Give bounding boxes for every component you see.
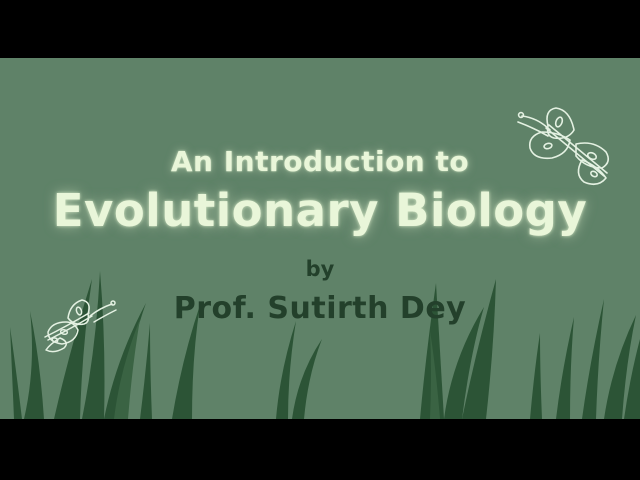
byline-label: by — [0, 233, 640, 280]
eyebrow-line: An Introduction to — [0, 58, 640, 176]
title-text-block: An Introduction to Evolutionary Biology … — [0, 58, 640, 324]
page-title: Evolutionary Biology — [0, 176, 640, 233]
title-slide: An Introduction to Evolutionary Biology … — [0, 58, 640, 419]
video-frame: An Introduction to Evolutionary Biology … — [0, 0, 640, 480]
letterbox-bar-top — [0, 0, 640, 58]
author-name: Prof. Sutirth Dey — [0, 280, 640, 324]
letterbox-bar-bottom — [0, 419, 640, 480]
